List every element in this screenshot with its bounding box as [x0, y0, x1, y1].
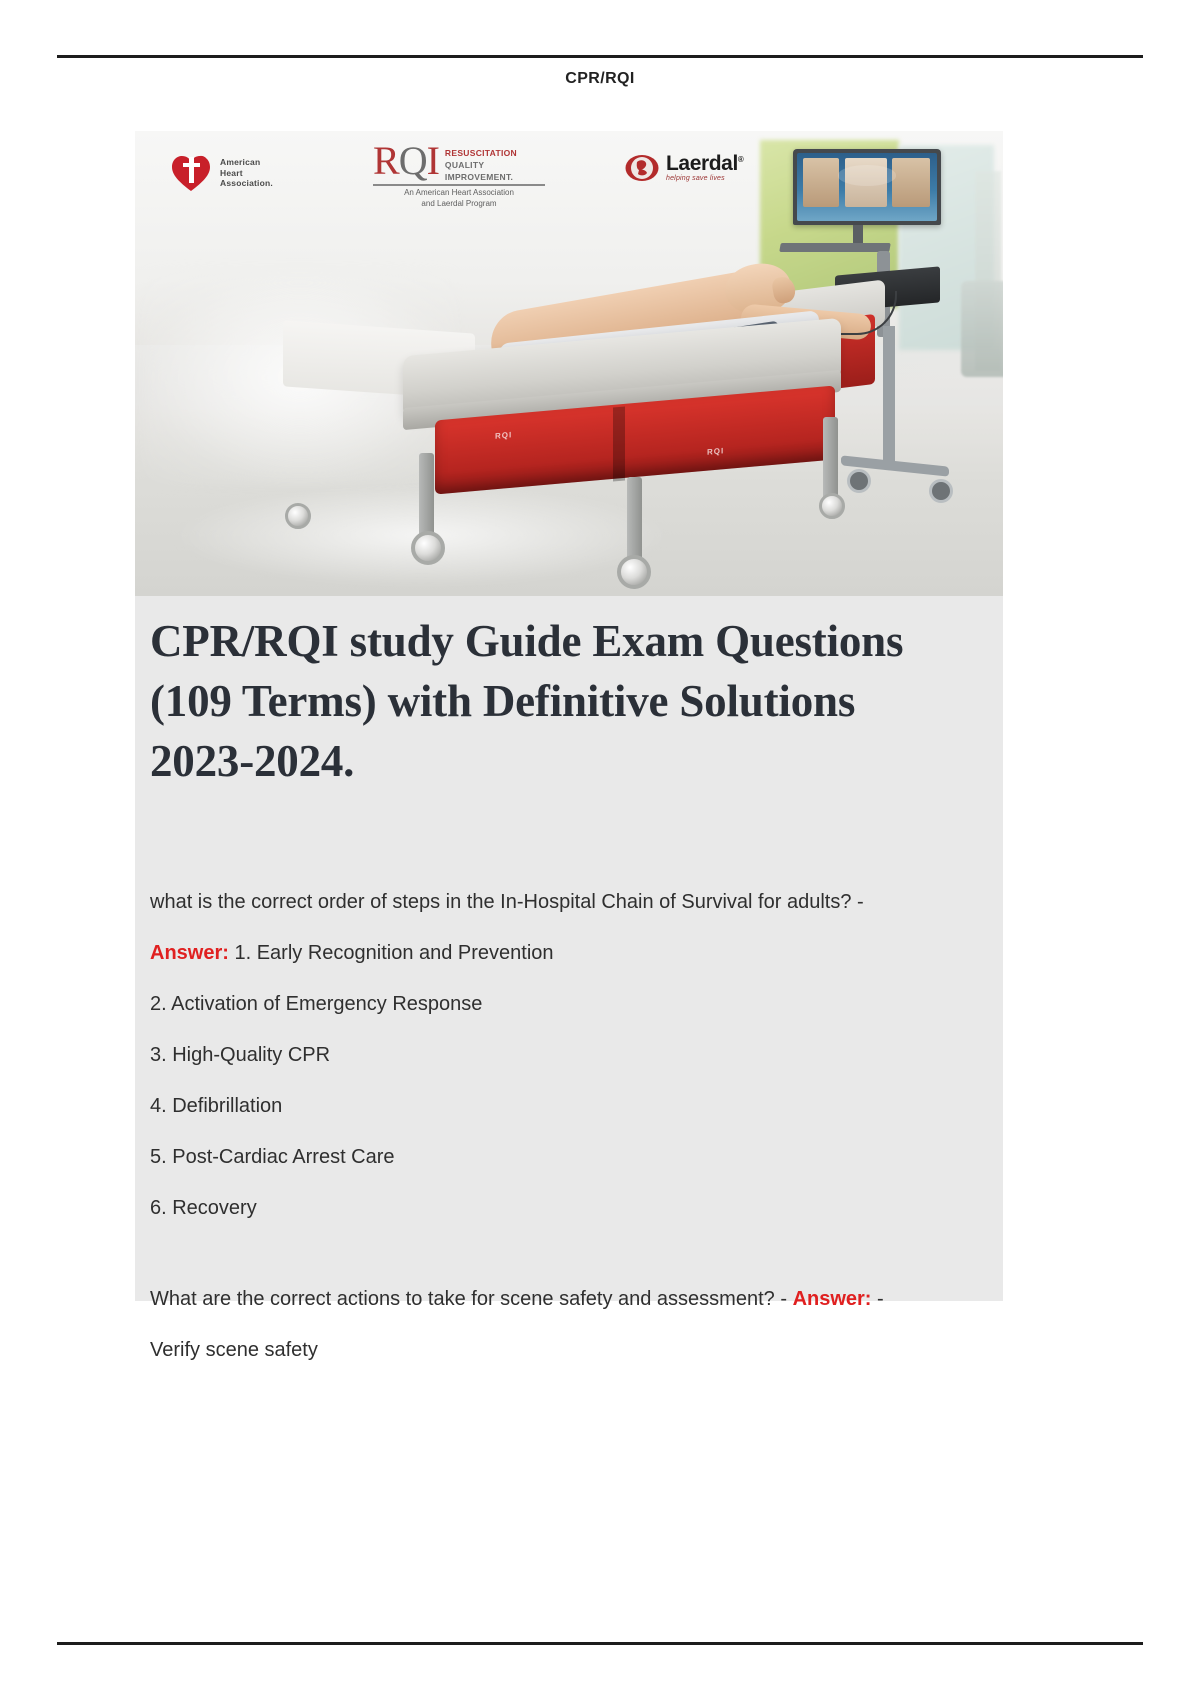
question-2-dash-before: - [780, 1288, 787, 1310]
aha-wordmark-line2: Heart [220, 168, 273, 178]
monitor-video-highlight [838, 165, 897, 185]
bed-caster-rear-left [285, 503, 311, 529]
answer-1-step-1: 1. Early Recognition and Prevention [234, 942, 553, 964]
monitor-neck [853, 225, 863, 243]
answer-1-step-5: 5. Post-Cardiac Arrest Care [150, 1145, 1006, 1170]
question-2-dash-after: - [877, 1288, 884, 1310]
document-body: what is the correct order of steps in th… [150, 890, 1006, 1391]
hero-image: American Heart Association. RQI RESUSCIT… [135, 131, 1003, 596]
rqi-logo: RQI RESUSCITATION QUALITY IMPROVEMENT. A… [373, 143, 545, 209]
bed-caster-rear-right [819, 493, 845, 519]
laerdal-wordmark: Laerdal® helping save lives [666, 153, 743, 182]
bed-caster-front-center [617, 555, 651, 589]
answer-label-1: Answer: [150, 942, 229, 964]
page-title-line-2: (109 Terms) with Definitive Solutions [150, 672, 990, 732]
monitor-video-tile-1 [803, 158, 839, 207]
laerdal-slogan: helping save lives [666, 175, 743, 182]
laerdal-emblem-icon [625, 154, 659, 182]
answer-1-step-4: 4. Defibrillation [150, 1094, 1006, 1119]
laerdal-name: Laerdal® [666, 153, 743, 175]
laerdal-trademark: ® [738, 155, 744, 164]
bed-badge-right: RQI [707, 446, 724, 457]
page-title-line-1: CPR/RQI study Guide Exam Questions [150, 612, 990, 672]
bed-badge-left: RQI [495, 430, 512, 441]
cart-post [883, 326, 895, 466]
aha-wordmark-line1: American [220, 157, 273, 167]
document-page: CPR/RQI American [0, 0, 1200, 1700]
answer-2-line-1: Verify scene safety [150, 1338, 1006, 1363]
header-divider-rule [57, 55, 1143, 58]
aha-wordmark-line3: Association. [220, 178, 273, 188]
rqi-letters: RQI [373, 143, 439, 180]
monitor-tray [779, 243, 891, 252]
question-1-answer-first-line: Answer: 1. Early Recognition and Prevent… [150, 941, 1006, 966]
rqi-expansion-line2: QUALITY [445, 159, 517, 171]
answer-1-step-6: 6. Recovery [150, 1196, 1006, 1221]
rqi-tagline-line2: and Laerdal Program [373, 199, 545, 209]
rqi-letter-r: R [373, 138, 399, 183]
rqi-expansion-stack: RESUSCITATION QUALITY IMPROVEMENT. [445, 143, 517, 183]
monitor-video-tile-3 [892, 158, 930, 207]
answer-1-step-2: 2. Activation of Emergency Response [150, 992, 1006, 1017]
training-monitor [793, 149, 941, 225]
question-2-prompt: What are the correct actions to take for… [150, 1288, 775, 1310]
cart-caster-left [847, 469, 871, 493]
page-title: CPR/RQI study Guide Exam Questions (109 … [150, 612, 990, 792]
monitor-screen [797, 153, 937, 221]
page-title-line-3: 2023-2024. [150, 732, 990, 792]
question-2-text: What are the correct actions to take for… [150, 1287, 1006, 1312]
rqi-expansion-line1: RESUSCITATION [445, 147, 517, 159]
american-heart-association-logo: American Heart Association. [170, 153, 273, 193]
rqi-tagline: An American Heart Association and Laerda… [373, 188, 545, 209]
cart-caster-right [929, 479, 953, 503]
running-head: CPR/RQI [0, 70, 1200, 88]
hero-background-chair [961, 281, 1003, 377]
question-1-text: what is the correct order of steps in th… [150, 890, 1006, 915]
rqi-divider-rule [373, 184, 545, 186]
rqi-logo-top: RQI RESUSCITATION QUALITY IMPROVEMENT. [373, 143, 545, 183]
answer-1-step-3: 3. High-Quality CPR [150, 1043, 1006, 1068]
answer-label-2: Answer: [793, 1288, 872, 1310]
rqi-letter-q: Q [399, 138, 427, 183]
rqi-letter-i: I [427, 138, 439, 183]
laerdal-name-text: Laerdal [666, 152, 738, 175]
aha-heart-torch-icon [170, 153, 212, 193]
rqi-expansion-line3: IMPROVEMENT. [445, 171, 517, 183]
bed-caster-front-left [411, 531, 445, 565]
rqi-tagline-line1: An American Heart Association [373, 188, 545, 198]
aha-wordmark: American Heart Association. [220, 157, 273, 188]
bed-drawer-divider [613, 406, 625, 481]
laerdal-logo: Laerdal® helping save lives [625, 153, 743, 182]
footer-divider-rule [57, 1642, 1143, 1645]
